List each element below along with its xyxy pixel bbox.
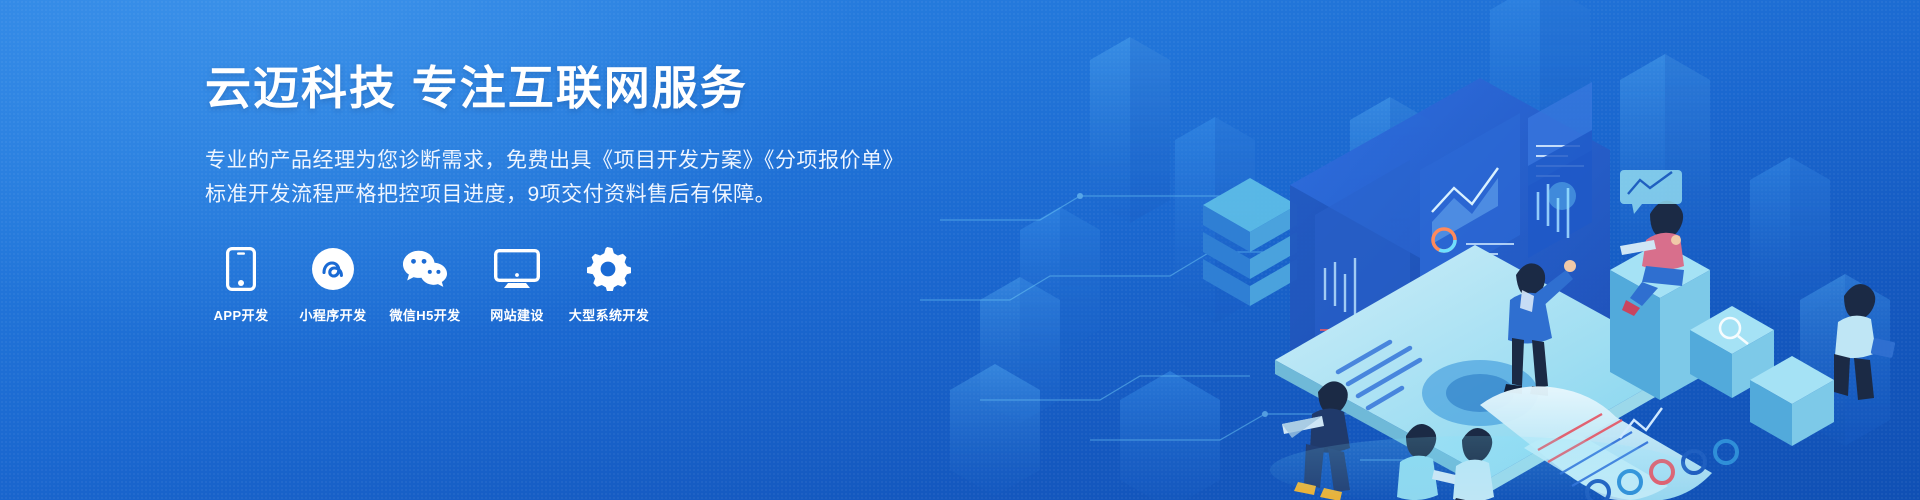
service-item-app[interactable]: APP开发 <box>205 246 277 324</box>
service-label: 大型系统开发 <box>569 305 649 324</box>
service-item-wechat-h5[interactable]: 微信H5开发 <box>389 246 461 324</box>
service-item-website[interactable]: 网站建设 <box>481 246 553 324</box>
wechat-icon <box>402 246 448 292</box>
service-label: 小程序开发 <box>299 305 366 324</box>
mini-program-icon <box>310 246 356 292</box>
subtitle-line-2: 标准开发流程严格把控项目进度，9项交付资料售后有保障。 <box>205 178 905 212</box>
service-label: 微信H5开发 <box>389 305 460 324</box>
page-title: 云迈科技 专注互联网服务 <box>205 60 905 118</box>
isometric-illustration <box>920 0 1920 500</box>
banner-subtitle: 专业的产品经理为您诊断需求，免费出具《项目开发方案》《分项报价单》 标准开发流程… <box>205 144 905 212</box>
server-stack <box>1203 178 1297 306</box>
gear-icon <box>586 246 632 292</box>
service-item-miniprogram[interactable]: 小程序开发 <box>297 246 369 324</box>
mobile-phone-icon <box>218 246 264 292</box>
service-list: APP开发 小程序开发 <box>205 246 905 324</box>
service-item-large-system[interactable]: 大型系统开发 <box>573 246 645 324</box>
subtitle-line-1: 专业的产品经理为您诊断需求，免费出具《项目开发方案》《分项报价单》 <box>205 144 905 178</box>
banner-content: 云迈科技 专注互联网服务 专业的产品经理为您诊断需求，免费出具《项目开发方案》《… <box>205 60 905 324</box>
service-label: 网站建设 <box>490 305 544 324</box>
monitor-icon <box>494 246 540 292</box>
service-label: APP开发 <box>214 305 269 324</box>
promo-banner: 云迈科技 专注互联网服务 专业的产品经理为您诊断需求，免费出具《项目开发方案》《… <box>0 0 1920 500</box>
